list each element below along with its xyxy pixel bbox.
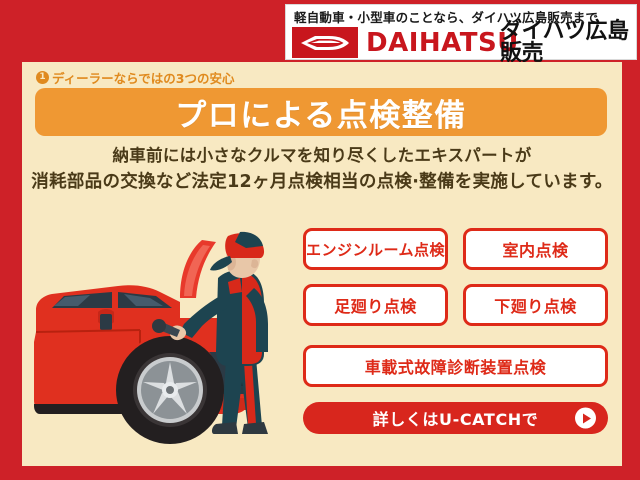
check-item-obd-diagnostics[interactable]: 車載式故障診断装置点検 <box>303 345 608 387</box>
brand-name-jp: ダイハツ広島販売 <box>500 27 640 58</box>
check-item-suspension[interactable]: 足廻り点検 <box>303 284 448 326</box>
eyebrow-label: ディーラーならではの3つの安心 <box>52 68 234 87</box>
eyebrow-number-badge: 1 <box>36 71 49 84</box>
brand-name-latin: DAIHATSU <box>366 27 519 58</box>
daihatsu-d-logo-icon <box>292 27 358 58</box>
check-item-underbody[interactable]: 下廻り点検 <box>463 284 608 326</box>
check-item-interior[interactable]: 室内点検 <box>463 228 608 270</box>
screen-root: 軽自動車・小型車のことなら、ダイハツ広島販売まで DAIHATSU ダイハツ広島… <box>0 0 640 480</box>
page-title: プロによる点検整備 <box>175 90 467 135</box>
check-item-engine-room[interactable]: エンジンルーム点検 <box>303 228 448 270</box>
cta-label: 詳しくはU-CATCHで <box>373 406 539 430</box>
description-line-2: 消耗部品の交換など法定12ヶ月点検相当の点検·整備を実施しています。 <box>22 169 622 195</box>
description-text: 納車前には小さなクルマを知り尽くしたエキスパートが 消耗部品の交換など法定12ヶ… <box>22 144 622 195</box>
eyebrow-heading: 1 ディーラーならではの3つの安心 <box>36 68 234 87</box>
description-line-1: 納車前には小さなクルマを知り尽くしたエキスパートが <box>22 144 622 169</box>
cta-button[interactable]: 詳しくはU-CATCHで <box>303 402 608 434</box>
title-banner: プロによる点検整備 <box>35 88 607 136</box>
mechanic-inspecting-red-car-illustration <box>30 212 320 460</box>
content-card: 1 ディーラーならではの3つの安心 プロによる点検整備 納車前には小さなクルマを… <box>22 62 622 466</box>
play-arrow-icon <box>575 408 596 429</box>
